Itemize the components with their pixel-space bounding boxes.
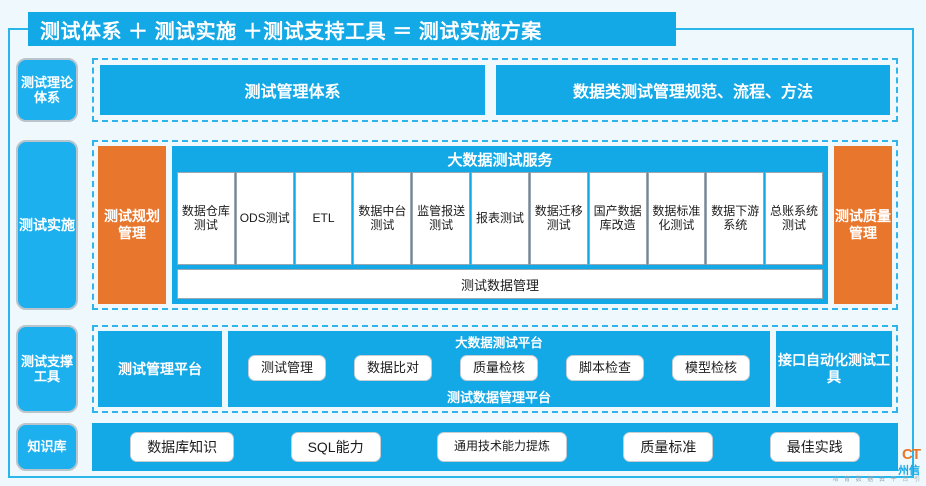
platform-pill[interactable]: 测试管理 [248,355,326,381]
platform-pill[interactable]: 质量检核 [460,355,538,381]
knowledge-item[interactable]: 最佳实践 [770,432,860,462]
test-service-cell[interactable]: 报表测试 [471,172,529,265]
test-data-management-platform-label: 测试数据管理平台 [228,385,770,407]
test-service-cell[interactable]: ETL [295,172,353,265]
test-planning-management-block[interactable]: 测试规划管理 [98,146,166,304]
knowledge-item[interactable]: 通用技术能力提炼 [437,432,567,462]
support-dashed-container: 测试管理平台 大数据测试平台 测试管理 数据比对 质量检核 脚本检查 模型检核 … [92,325,898,413]
test-data-management-bar[interactable]: 测试数据管理 [177,269,823,299]
sidebar-item-knowledge-base[interactable]: 知识库 [16,423,78,471]
platform-pill[interactable]: 模型检核 [672,355,750,381]
sidebar-item-theory[interactable]: 测试理论体系 [16,58,78,122]
row-knowledge-base: 知识库 数据库知识 SQL能力 通用技术能力提炼 质量标准 最佳实践 [16,423,898,471]
theory-dashed-container: 测试管理体系 数据类测试管理规范、流程、方法 [92,58,898,122]
bigdata-test-platform-title: 大数据测试平台 [228,331,770,351]
implementation-dashed-container: 测试规划管理 大数据测试服务 数据仓库测试 ODS测试 ETL 数据中台测试 监… [92,140,898,310]
test-service-cell[interactable]: 数据中台测试 [353,172,411,265]
platform-pill[interactable]: 数据比对 [354,355,432,381]
knowledge-item[interactable]: SQL能力 [291,432,381,462]
sidebar-item-implementation[interactable]: 测试实施 [16,140,78,310]
theory-block-data-spec[interactable]: 数据类测试管理规范、流程、方法 [496,65,890,115]
test-service-cell[interactable]: 数据迁移测试 [530,172,588,265]
test-management-platform-block[interactable]: 测试管理平台 [98,331,222,407]
row-implementation: 测试实施 测试规划管理 大数据测试服务 数据仓库测试 ODS测试 ETL 数据中… [16,140,898,310]
knowledge-item[interactable]: 质量标准 [623,432,713,462]
page-title: 测试体系 ＋ 测试实施 ＋测试支持工具 ＝ 测试实施方案 [28,12,676,46]
test-service-cell[interactable]: 监管报送测试 [412,172,470,265]
bigdata-test-platform-panel: 大数据测试平台 测试管理 数据比对 质量检核 脚本检查 模型检核 测试数据管理平… [228,331,770,407]
test-service-cell[interactable]: ODS测试 [236,172,294,265]
bigdata-test-service-panel: 大数据测试服务 数据仓库测试 ODS测试 ETL 数据中台测试 监管报送测试 报… [172,146,828,304]
knowledge-base-band: 数据库知识 SQL能力 通用技术能力提炼 质量标准 最佳实践 [92,423,898,471]
test-service-cell[interactable]: 数据标准化测试 [648,172,706,265]
knowledge-item[interactable]: 数据库知识 [130,432,234,462]
test-service-cell[interactable]: 数据仓库测试 [177,172,235,265]
test-quality-management-block[interactable]: 测试质量管理 [834,146,892,304]
test-service-cell-list: 数据仓库测试 ODS测试 ETL 数据中台测试 监管报送测试 报表测试 数据迁移… [172,172,828,265]
test-service-cell[interactable]: 数据下游系统 [706,172,764,265]
platform-pill-list: 测试管理 数据比对 质量检核 脚本检查 模型检核 [228,351,770,385]
sidebar-item-support-tools[interactable]: 测试支撑工具 [16,325,78,413]
row-support-tools: 测试支撑工具 测试管理平台 大数据测试平台 测试管理 数据比对 质量检核 脚本检… [16,325,898,413]
api-automation-tool-block[interactable]: 接口自动化测试工具 [776,331,892,407]
test-service-cell[interactable]: 国产数据库改造 [589,172,647,265]
bigdata-test-service-title: 大数据测试服务 [172,146,828,172]
theory-block-management-system[interactable]: 测试管理体系 [100,65,485,115]
slide-root: 测试体系 ＋ 测试实施 ＋测试支持工具 ＝ 测试实施方案 测试理论体系 测试管理… [0,0,926,486]
platform-pill[interactable]: 脚本检查 [566,355,644,381]
test-service-cell[interactable]: 总账系统测试 [765,172,823,265]
row-theory: 测试理论体系 测试管理体系 数据类测试管理规范、流程、方法 [16,58,898,122]
